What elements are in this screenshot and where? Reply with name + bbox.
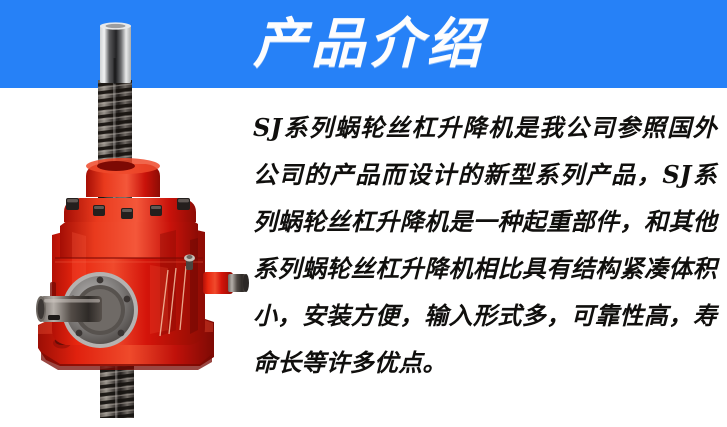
worm-shaft-stub [203, 272, 249, 294]
page-title: 产品介绍 [253, 8, 485, 80]
product-image [0, 0, 250, 427]
product-intro-page: 产品介绍 [0, 0, 727, 427]
screw-shaft-chrome [100, 22, 131, 84]
screw-jack-illustration [0, 0, 250, 427]
product-description: SJ系列蜗轮丝杠升降机是我公司参照国外公司的产品而设计的新型系列产品，SJ系列蜗… [253, 104, 717, 386]
